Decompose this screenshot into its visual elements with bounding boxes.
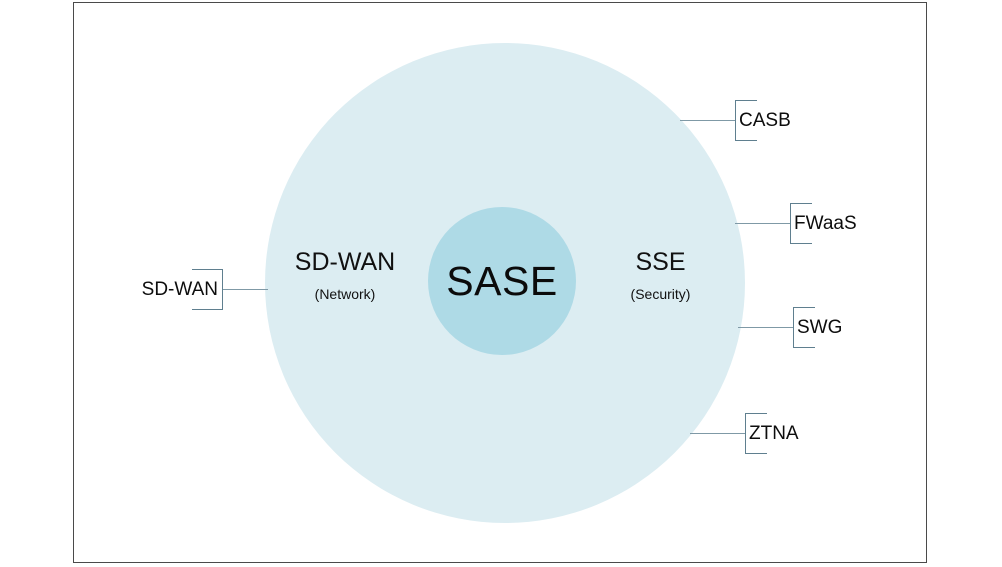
pillar-sse: SSE (Security): [578, 248, 743, 302]
diagram-canvas: SD-WAN (Network) SSE (Security) SASE SD-…: [0, 0, 1002, 567]
leader-line-casb: [680, 120, 736, 121]
pillar-sd-wan-title: SD-WAN: [255, 248, 435, 277]
pillar-sse-subtitle: (Security): [578, 286, 743, 302]
callout-label-casb: CASB: [739, 111, 791, 130]
leader-line-fwaas: [735, 223, 791, 224]
sase-core-label: SASE: [446, 261, 557, 302]
callout-label-sd-wan: SD-WAN: [112, 280, 218, 299]
leader-line-swg: [738, 327, 794, 328]
inner-circle-sase-core: SASE: [428, 207, 576, 355]
pillar-sse-title: SSE: [578, 248, 743, 277]
pillar-sd-wan: SD-WAN (Network): [255, 248, 435, 302]
callout-label-fwaas: FWaaS: [794, 214, 857, 233]
callout-label-swg: SWG: [797, 318, 842, 337]
pillar-sd-wan-subtitle: (Network): [255, 286, 435, 302]
callout-label-ztna: ZTNA: [749, 424, 799, 443]
leader-line-sd-wan: [222, 289, 268, 290]
leader-line-ztna: [690, 433, 746, 434]
